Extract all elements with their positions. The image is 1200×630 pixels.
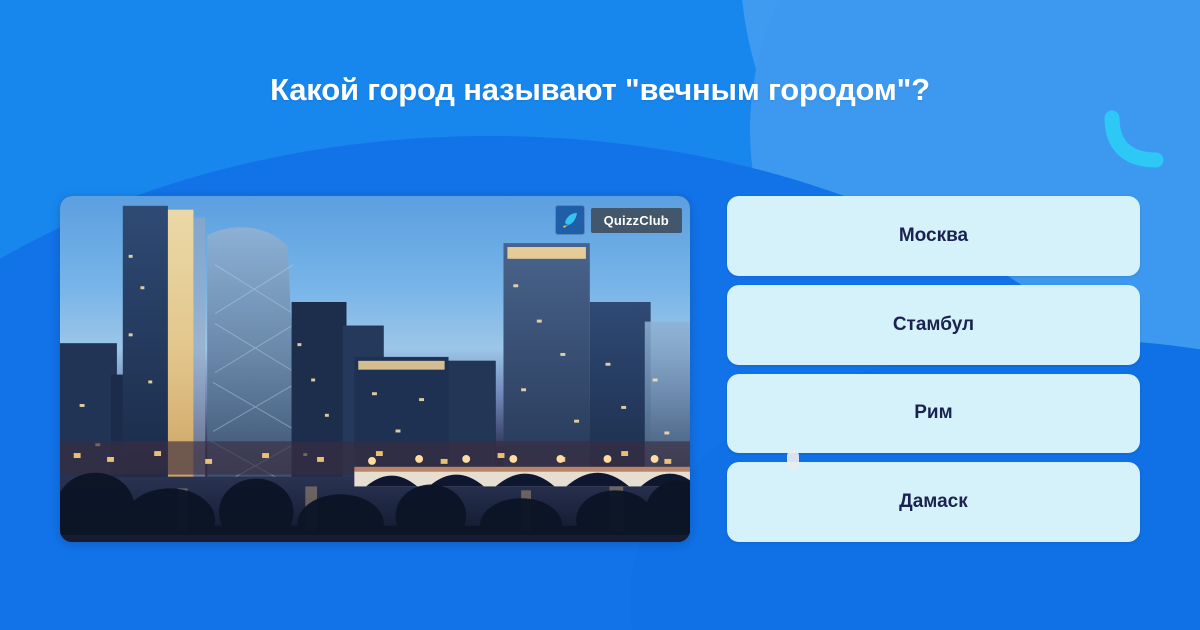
quill-pen-icon	[555, 205, 585, 235]
question-image: QuizzClub	[60, 196, 690, 542]
answer-option-1[interactable]: Москва	[727, 196, 1140, 276]
answer-option-3[interactable]: Рим	[727, 374, 1140, 454]
answer-option-2[interactable]: Стамбул	[727, 285, 1140, 365]
page-title: Какой город называют "вечным городом"?	[0, 72, 1200, 108]
watermark: QuizzClub	[555, 205, 682, 235]
scroll-marker[interactable]	[787, 450, 799, 470]
city-skyline-illustration	[60, 196, 690, 535]
answer-list: Москва Стамбул Рим Дамаск	[727, 196, 1140, 542]
quiz-body: QuizzClub Москва Стамбул Рим Дамаск	[60, 196, 1140, 542]
cyan-hook-icon	[1100, 108, 1170, 174]
answer-option-4[interactable]: Дамаск	[727, 462, 1140, 542]
quiz-card: Какой город называют "вечным городом"?	[0, 0, 1200, 630]
watermark-brand: QuizzClub	[591, 208, 682, 233]
